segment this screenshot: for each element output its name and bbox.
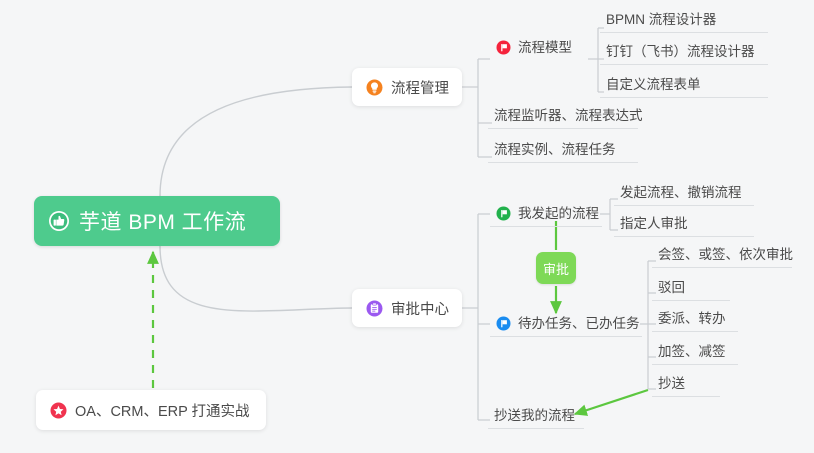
leaf-chaosong-wo-de-liucheng[interactable]: 抄送我的流程 — [488, 403, 584, 429]
leaf-label-weipai-zhuanban: 委派、转办 — [658, 311, 726, 327]
root-node[interactable]: 芋道 BPM 工作流 — [34, 196, 280, 246]
pill-label-shenpi: 审批 — [543, 259, 569, 278]
leaf-label-jiaqian-jianqian: 加签、减签 — [658, 344, 726, 360]
leaf-jiaqian-jianqian[interactable]: 加签、减签 — [652, 339, 738, 365]
leaf-label-bohui: 驳回 — [658, 280, 685, 296]
connector-root-to-shenpi-zhongxin — [160, 246, 352, 311]
lightbulb-icon — [366, 79, 383, 96]
star-red-icon — [50, 402, 67, 419]
leaf-chaosong[interactable]: 抄送 — [652, 371, 720, 397]
pill-node-shenpi[interactable]: 审批 — [536, 252, 576, 284]
root-label: 芋道 BPM 工作流 — [79, 206, 246, 236]
leaf-daiban-yiban-renwu[interactable]: 待办任务、已办任务 — [490, 311, 642, 337]
leaf-faqi-chexiao[interactable]: 发起流程、撤销流程 — [614, 180, 754, 206]
leaf-zhiding-ren-shenpi[interactable]: 指定人审批 — [614, 211, 754, 237]
leaf-label-faqi-chexiao: 发起流程、撤销流程 — [620, 185, 742, 201]
leaf-bohui[interactable]: 驳回 — [652, 275, 730, 301]
leaf-shili-renwu[interactable]: 流程实例、流程任务 — [488, 137, 638, 163]
connector-root-to-liucheng-guanli — [160, 87, 352, 196]
leaf-label-dingding-feishu-sheji: 钉钉（飞书）流程设计器 — [606, 44, 755, 60]
leaf-dingding-feishu-sheji[interactable]: 钉钉（飞书）流程设计器 — [600, 39, 768, 65]
leaf-label-daiban-yiban-renwu: 待办任务、已办任务 — [518, 316, 640, 332]
leaf-label-shili-renwu: 流程实例、流程任务 — [494, 142, 616, 158]
leaf-label-chaosong: 抄送 — [658, 376, 685, 392]
leaf-bpmn-sheji[interactable]: BPMN 流程设计器 — [600, 7, 768, 33]
leaf-wo-faqi-de-liucheng[interactable]: 我发起的流程 — [490, 201, 602, 227]
leaf-zidingyi-biaodan[interactable]: 自定义流程表单 — [600, 72, 768, 98]
flag-red-icon — [496, 40, 511, 56]
leaf-label-huiqian-huoqian-yici: 会签、或签、依次审批 — [658, 247, 793, 263]
leaf-label-zidingyi-biaodan: 自定义流程表单 — [606, 77, 701, 93]
leaf-label-chaosong-wo-de-liucheng: 抄送我的流程 — [494, 408, 575, 424]
leaf-label-zhiding-ren-shenpi: 指定人审批 — [620, 216, 688, 232]
branch-label-liucheng-guanli: 流程管理 — [391, 77, 449, 98]
note-node-oa-crm-erp[interactable]: OA、CRM、ERP 打通实战 — [36, 390, 266, 430]
flag-green-icon — [496, 206, 511, 222]
leaf-label-bpmn-sheji: BPMN 流程设计器 — [606, 12, 716, 28]
branch-label-shenpi-zhongxin: 审批中心 — [391, 298, 449, 319]
leaf-label-wo-faqi-de-liucheng: 我发起的流程 — [518, 206, 599, 222]
flag-blue-icon — [496, 316, 511, 332]
branch-node-shenpi-zhongxin[interactable]: 审批中心 — [352, 289, 462, 327]
branch-node-liucheng-guanli[interactable]: 流程管理 — [352, 68, 462, 106]
thumbs-up-icon — [48, 210, 70, 232]
mindmap-canvas: 芋道 BPM 工作流 流程管理 流程模型 BPMN 流程设计器 钉钉 — [0, 0, 814, 453]
leaf-huiqian-huoqian-yici[interactable]: 会签、或签、依次审批 — [652, 242, 792, 268]
note-label-oa-crm-erp: OA、CRM、ERP 打通实战 — [75, 400, 250, 421]
leaf-label-jiantingqi-biaodashi: 流程监听器、流程表达式 — [494, 108, 643, 124]
leaf-liucheng-moxing[interactable]: 流程模型 — [490, 34, 590, 60]
leaf-jiantingqi-biaodashi[interactable]: 流程监听器、流程表达式 — [488, 103, 638, 129]
leaf-label-liucheng-moxing: 流程模型 — [518, 40, 572, 56]
leaf-weipai-zhuanban[interactable]: 委派、转办 — [652, 306, 738, 332]
arrow-chaosong-to-chaosong-wode — [575, 390, 648, 414]
clipboard-purple-icon — [366, 300, 383, 317]
